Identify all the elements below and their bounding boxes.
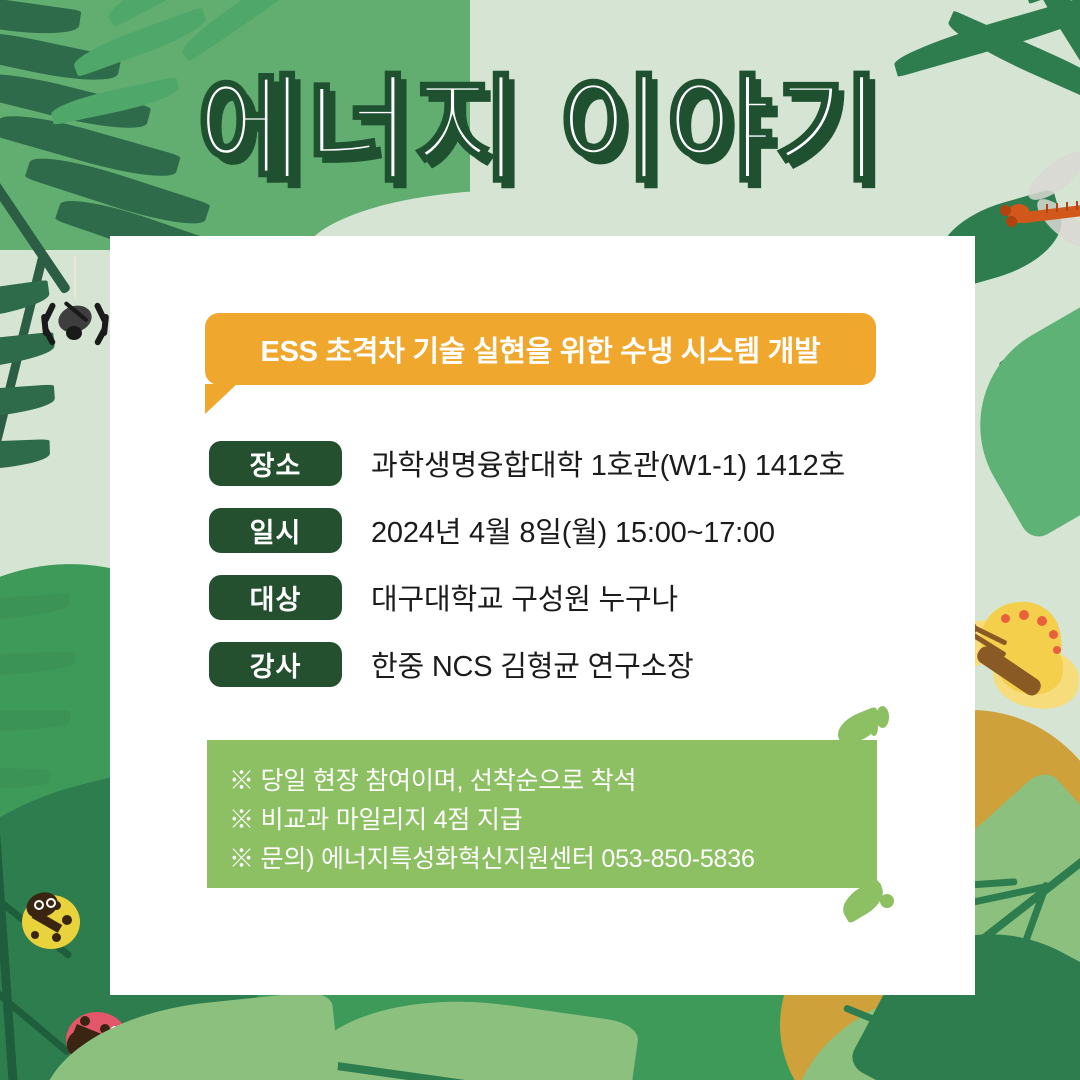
detail-value: 대구대학교 구성원 누구나 xyxy=(371,576,678,618)
dragonfly-icon xyxy=(1000,185,1080,245)
detail-row: 강사 한중 NCS 김형균 연구소장 xyxy=(209,641,845,687)
detail-row: 대상 대구대학교 구성원 누구나 xyxy=(209,574,845,620)
ladybug-icon xyxy=(22,895,80,949)
note-line: ※ 문의) 에너지특성화혁신지원센터 053-850-5836 xyxy=(229,840,877,879)
detail-value: 2024년 4월 8일(월) 15:00~17:00 xyxy=(371,509,775,551)
sprout-icon xyxy=(836,702,896,746)
spider-icon xyxy=(44,296,106,354)
page-title: 에너지 이야기 xyxy=(0,72,1080,188)
detail-label-chip: 장소 xyxy=(209,441,342,486)
headline-text: ESS 초격차 기술 실현을 위한 수냉 시스템 개발 xyxy=(261,328,821,370)
bubble-tail-icon xyxy=(205,384,237,414)
detail-label-chip: 대상 xyxy=(209,575,342,620)
note-line: ※ 비교과 마일리지 4점 지급 xyxy=(229,801,877,840)
notes-box: ※ 당일 현장 참여이며, 선착순으로 착석 ※ 비교과 마일리지 4점 지급 … xyxy=(207,740,877,888)
detail-value: 한중 NCS 김형균 연구소장 xyxy=(371,643,694,685)
detail-row: 일시 2024년 4월 8일(월) 15:00~17:00 xyxy=(209,507,845,553)
poster-canvas: 에너지 이야기 ESS 초격차 기술 실현을 위한 수냉 시스템 개발 장소 과… xyxy=(0,0,1080,1080)
detail-row: 장소 과학생명융합대학 1호관(W1-1) 1412호 xyxy=(209,440,845,486)
detail-value: 과학생명융합대학 1호관(W1-1) 1412호 xyxy=(371,442,845,484)
sprout-icon xyxy=(840,880,900,924)
headline-banner: ESS 초격차 기술 실현을 위한 수냉 시스템 개발 xyxy=(205,313,876,385)
detail-label-chip: 강사 xyxy=(209,642,342,687)
detail-list: 장소 과학생명융합대학 1호관(W1-1) 1412호 일시 2024년 4월 … xyxy=(209,440,845,708)
detail-label-chip: 일시 xyxy=(209,508,342,553)
note-line: ※ 당일 현장 참여이며, 선착순으로 착석 xyxy=(229,762,877,801)
